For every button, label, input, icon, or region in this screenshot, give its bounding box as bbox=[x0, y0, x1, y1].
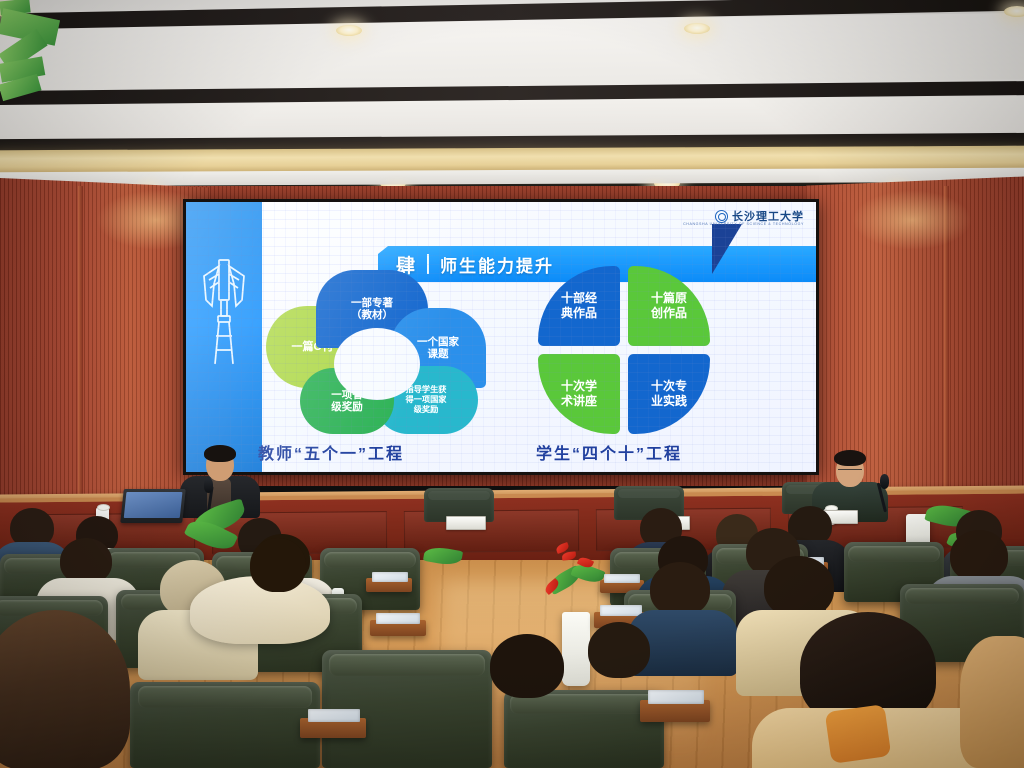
audience-head bbox=[650, 562, 710, 616]
ceiling-downlight bbox=[1004, 6, 1024, 17]
slide-title-ribbon: 肆 师生能力提升 bbox=[282, 224, 764, 260]
desk-tablet-pad bbox=[376, 613, 420, 624]
seat-headrest bbox=[324, 552, 416, 568]
desk-tablet-pad bbox=[648, 690, 704, 704]
teacher-petal-diagram: 一篇C刊 一部专著 （教材） 一个国家 课题 指导学生获 得一项国家 级奖励 一… bbox=[270, 270, 500, 430]
microphone-head bbox=[204, 478, 213, 493]
audience-head bbox=[588, 622, 650, 678]
audience-collar bbox=[825, 704, 892, 764]
wall-light-glow bbox=[852, 190, 972, 250]
bridge-tower-icon bbox=[200, 254, 248, 372]
student-quadrant-diagram: 十部经 典作品 十篇原 创作品 十次学 术讲座 十次专 业实践 bbox=[538, 266, 710, 434]
desk-tablet-pad bbox=[604, 574, 640, 583]
seat-headrest bbox=[905, 588, 1019, 604]
note-taker-hair bbox=[834, 450, 866, 466]
plant-vase bbox=[562, 612, 590, 686]
quadrant-classic-works: 十部经 典作品 bbox=[538, 266, 620, 346]
desk-tablet-pad bbox=[308, 709, 360, 722]
university-name-english: CHANGSHA UNIVERSITY OF SCIENCE & TECHNOL… bbox=[683, 222, 804, 226]
seat-headrest bbox=[329, 654, 485, 676]
name-placard bbox=[446, 516, 486, 530]
audience-coat bbox=[960, 636, 1024, 768]
desk-tablet-pad bbox=[372, 572, 408, 582]
audience-head bbox=[950, 530, 1008, 582]
ceiling-downlight bbox=[684, 23, 710, 34]
microphone-head bbox=[880, 474, 889, 489]
presenter-hair bbox=[204, 445, 236, 462]
auditorium-seat[interactable] bbox=[130, 682, 320, 768]
university-emblem-icon bbox=[715, 210, 728, 223]
conference-hall-photo: 肆 师生能力提升 长沙理工大学 CHANGSHA UNIVERSITY OF S… bbox=[0, 0, 1024, 768]
eyeglasses-icon bbox=[838, 469, 862, 474]
projection-screen: 肆 师生能力提升 长沙理工大学 CHANGSHA UNIVERSITY OF S… bbox=[183, 199, 819, 475]
desk-tablet-pad bbox=[600, 605, 642, 616]
audience-head bbox=[250, 538, 306, 592]
quadrant-practice: 十次专 业实践 bbox=[628, 354, 710, 434]
teacher-diagram-caption: 教师“五个一”工程 bbox=[258, 440, 404, 464]
quadrant-lectures: 十次学 术讲座 bbox=[538, 354, 620, 434]
seat-headrest bbox=[138, 686, 313, 708]
student-diagram-caption: 学生“四个十”工程 bbox=[536, 440, 682, 464]
quadrant-original-works: 十篇原 创作品 bbox=[628, 266, 710, 346]
slide-sidebar-band bbox=[186, 202, 262, 472]
petal-center-hole bbox=[334, 328, 420, 400]
presenter-laptop bbox=[120, 489, 186, 523]
slide-surface: 肆 师生能力提升 长沙理工大学 CHANGSHA UNIVERSITY OF S… bbox=[186, 202, 816, 472]
audience-head bbox=[490, 634, 564, 698]
ceiling-downlight bbox=[336, 25, 362, 36]
audience-head bbox=[764, 556, 834, 618]
seat-headrest bbox=[848, 546, 940, 562]
